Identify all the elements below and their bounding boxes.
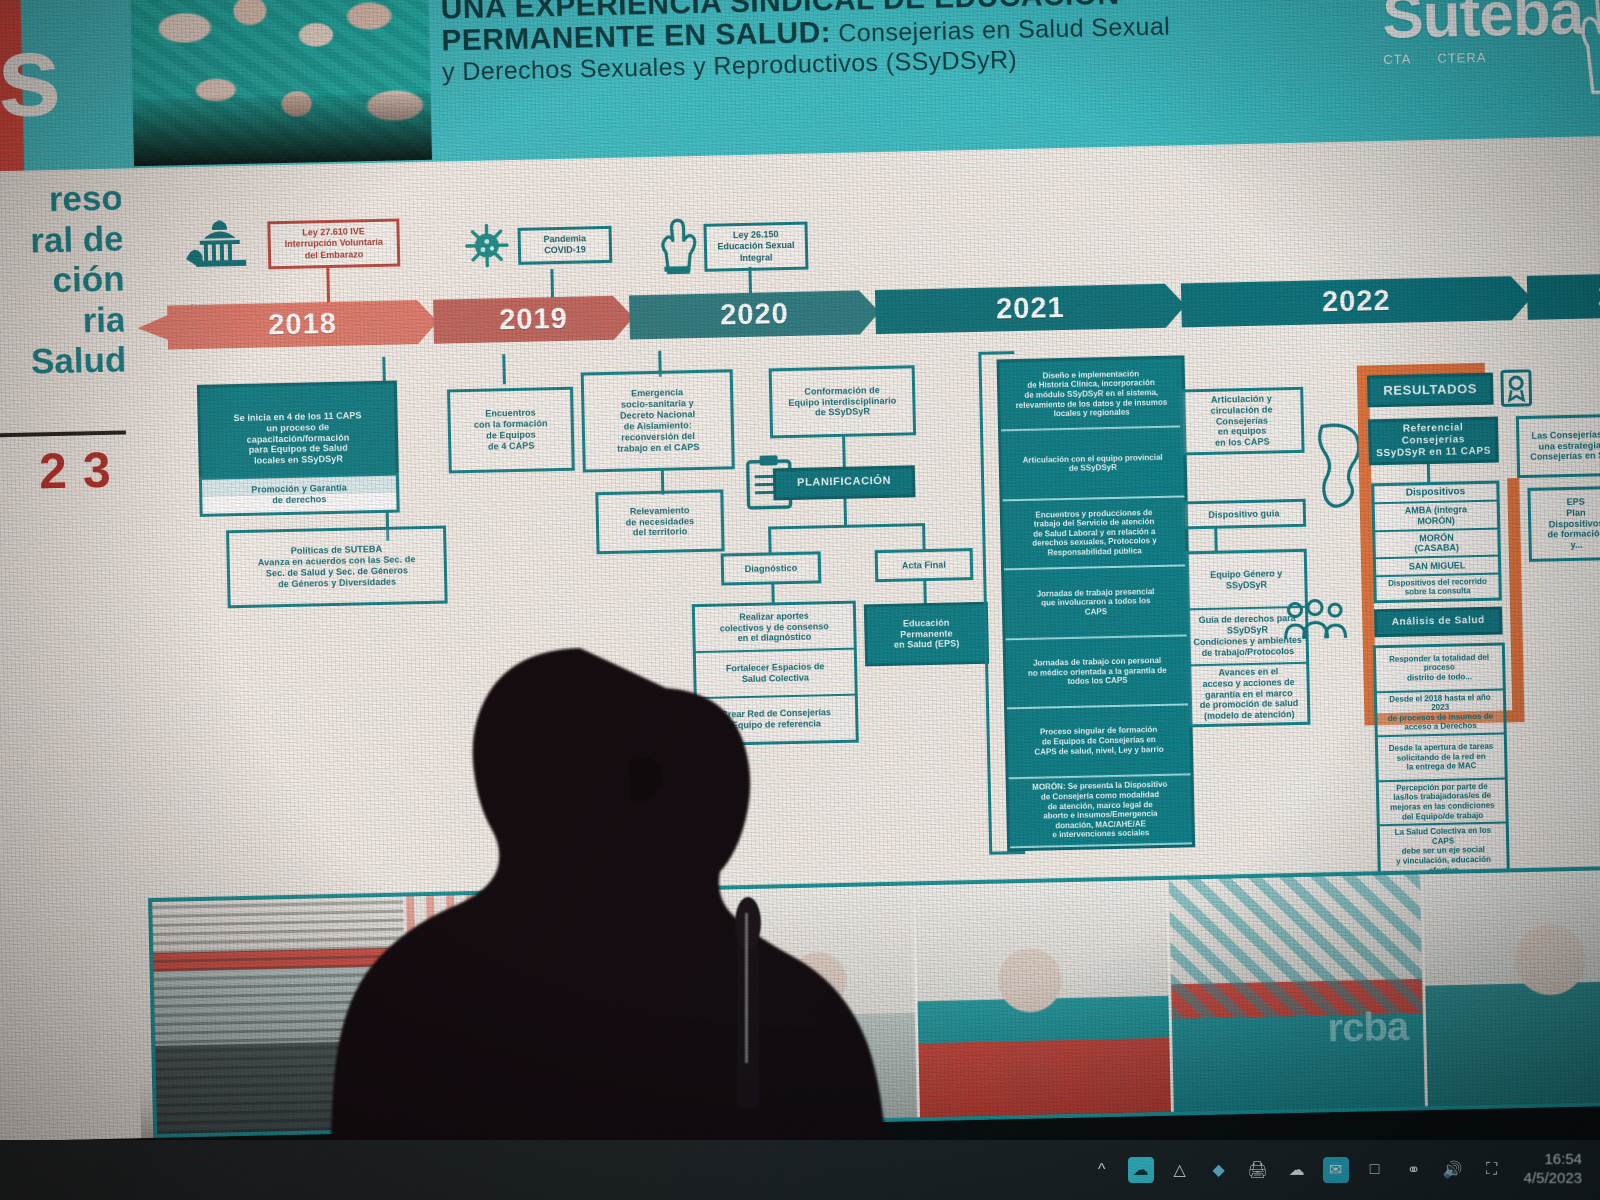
divider [0, 430, 126, 439]
box-2022-main-actions: Diseño e implementación de Historia Clín… [996, 355, 1195, 851]
box-text: Se inicia en 4 de los 11 CAPS un proceso… [233, 410, 362, 468]
milestone-label: PandemiaCOVID-19 [517, 226, 612, 265]
box-2023-eps-plan: EPS Plan Dispositivos de formación y... [1527, 486, 1600, 562]
people-group-icon [1282, 598, 1349, 643]
suteba-logo: Suteba CTA CTERA [1382, 0, 1584, 67]
volume-icon[interactable]: 🔊 [1440, 1157, 1466, 1183]
photo-watermark: rcba [1327, 1005, 1408, 1052]
taskbar-clock[interactable]: 16:54 4/5/2023 [1518, 1151, 1582, 1189]
microphone-icon [735, 895, 761, 1110]
timeline-year-2021[interactable]: 2021 [875, 283, 1186, 334]
clock-date: 4/5/2023 [1524, 1170, 1582, 1189]
box-2023-dispositivos: Dispositivos AMBA (integra MORÓN) MORÓN … [1371, 481, 1502, 604]
year-label: 2021 [996, 291, 1065, 325]
photo-encuentro [1423, 869, 1600, 1106]
congress-line: ral de [0, 219, 124, 264]
mail-icon[interactable]: ✉ [1323, 1157, 1349, 1183]
logo-affiliations: CTA CTERA [1383, 47, 1584, 66]
title-line-3: Consejerias en Salud Sexual [831, 12, 1171, 47]
stack-item: Diseño e implementación de Historia Clín… [1000, 358, 1183, 431]
printer-icon[interactable]: 🖨 [1245, 1157, 1271, 1183]
box-text: Dispositivo guía [1208, 508, 1279, 521]
congress-line: Salud [0, 341, 127, 386]
capitol-building-icon [183, 216, 258, 274]
display-icon[interactable]: □ [1362, 1157, 1388, 1183]
stack-item: Articulación con el equipo provincial de… [1001, 428, 1184, 501]
onedrive-icon[interactable]: ☁ [1128, 1157, 1154, 1183]
nvidia-icon[interactable]: ◆ [1206, 1157, 1232, 1183]
congress-title: reso ral de ción ria Salud [0, 179, 127, 387]
box-2023-resultados: RESULTADOS [1367, 373, 1494, 408]
box-text: Promoción y Garantía de derechos [251, 483, 347, 507]
certificate-icon [1499, 368, 1534, 409]
google-drive-icon[interactable]: △ [1167, 1157, 1193, 1183]
box-2018-rights: Promoción y Garantía de derechos [199, 473, 400, 517]
box-2023-analisis-salud: Análisis de Salud [1374, 607, 1503, 638]
stack-item: Desde la apertura de tareas solicitando … [1378, 735, 1505, 782]
box-text: Conformación de Equipo interdisciplinari… [788, 384, 897, 419]
box-text: Articulación y circulación de Consejería… [1186, 393, 1297, 450]
stack-item: Responder la totalidad del proceso distr… [1376, 646, 1503, 693]
raised-fist-icon [655, 214, 698, 277]
connector [989, 851, 1025, 855]
connector [768, 523, 922, 529]
congress-line: ria [0, 300, 126, 345]
timeline: 2018 2019 2020 2021 2022 2023 [137, 273, 1600, 362]
stack-item: Encuentros y producciones de trabajo del… [1003, 497, 1186, 570]
stack-item: Avances en el acceso y acciones de garan… [1190, 664, 1307, 725]
cloud-sync-icon[interactable]: ☁ [1284, 1157, 1310, 1183]
logo-sub-left: CTA [1383, 51, 1411, 67]
box-text: Las Consejerías son una estrategia de Co… [1530, 428, 1600, 463]
photo-taller-2 [914, 880, 1173, 1117]
box-2022-dispositivo: Dispositivo guía [1182, 499, 1307, 530]
box-text: Políticas de SUTEBA Avanza en acuerdos c… [258, 543, 417, 590]
speaker-silhouette [330, 640, 890, 1200]
connector [842, 437, 846, 467]
box-text: Referencial Consejerías SSyDSyR en 11 CA… [1375, 421, 1492, 460]
congress-line: reso [0, 179, 123, 224]
box-2018-policy: Políticas de SUTEBA Avanza en acuerdos c… [226, 526, 448, 609]
box-text: PLANIFICACIÓN [797, 475, 891, 490]
year-label: 2020 [720, 298, 789, 332]
show-hidden-icons-chevron[interactable]: ^ [1089, 1157, 1115, 1183]
stack-item: AMBA (integra MORÓN) [1375, 502, 1498, 532]
box-2023-referencial: Referencial Consejerías SSyDSyR en 11 CA… [1368, 417, 1499, 466]
connector [923, 581, 927, 605]
timeline-year-2019[interactable]: 2019 [433, 295, 634, 343]
congress-bigword: os [0, 8, 59, 145]
box-2020-planificacion: PLANIFICACIÓN [773, 465, 916, 500]
system-tray[interactable]: ^ ☁ △ ◆ 🖨 ☁ ✉ □ ⚭ 🔊 ⛶ 16:54 4/5/2023 [1089, 1140, 1592, 1200]
stack-item: MORÓN: Se presenta la Dispositivo de Con… [1009, 775, 1192, 848]
box-text: RESULTADOS [1383, 381, 1477, 399]
congress-year: 23 [0, 440, 127, 503]
box-2020-emergency: Emergencia socio-sanitaria y Decreto Nac… [581, 369, 735, 472]
box-text: Acta Final [902, 559, 946, 571]
box-text: Encuentros con la formación de Equipos d… [474, 407, 549, 452]
box-text: Emergencia socio-sanitaria y Decreto Nac… [616, 387, 700, 455]
screenshot-root: os reso ral de ción ria Salud 23 UNA EXP… [0, 0, 1600, 1200]
box-2022-articulation: Articulación y circulación de Consejería… [1179, 387, 1304, 456]
connector [768, 526, 772, 554]
timeline-year-2018[interactable]: 2018 [167, 300, 438, 350]
slide-title: UNA EXPERIENCIA SINDICAL DE EDUCACIÓN PE… [440, 0, 1262, 86]
box-text: Relevamiento de necesidades del territor… [625, 505, 694, 539]
stack-item: Desde el 2018 hasta el año 2023 de proce… [1377, 690, 1504, 737]
connector [502, 354, 506, 384]
antivirus-shield-icon[interactable]: ⚭ [1401, 1157, 1427, 1183]
virus-icon [463, 222, 510, 269]
raised-hand-icon [1572, 0, 1600, 95]
clock-time: 16:54 [1524, 1151, 1582, 1170]
box-text: Análisis de Salud [1392, 615, 1485, 629]
logo-sub-right: CTERA [1437, 50, 1486, 66]
stack-item: Dispositivos del recorrido sobre la cons… [1376, 574, 1498, 600]
timeline-year-2023[interactable]: 2023 [1527, 271, 1600, 320]
year-label: 2018 [268, 307, 337, 341]
box-2020-team: Conformación de Equipo interdisciplinari… [769, 365, 916, 438]
milestone-label: Ley 26.150Educación Sexual Integral [703, 222, 808, 272]
connector [978, 351, 1014, 355]
congress-line: ción [0, 260, 125, 305]
milestone-label: Ley 27.610 IVEInterrupción Voluntariadel… [267, 218, 400, 269]
stack-item: Percepción por parte de las/los trabajad… [1379, 779, 1506, 826]
timeline-year-2022[interactable]: 2022 [1181, 276, 1532, 328]
box-text: Diagnóstico [745, 562, 798, 574]
year-label: 2019 [499, 302, 568, 336]
orange-accent-right [1507, 478, 1524, 722]
box-2019-meetings: Encuentros con la formación de Equipos d… [447, 387, 575, 474]
box-2023-consejerias-estrategia: Las Consejerías son una estrategia de Co… [1516, 414, 1600, 479]
box-text: EPS Plan Dispositivos de formación y... [1547, 496, 1600, 552]
timeline-year-2020[interactable]: 2020 [629, 290, 880, 339]
year-label: 2022 [1322, 284, 1391, 318]
connector [1214, 529, 1218, 553]
congress-branding-strip: os reso ral de ción ria Salud 23 [0, 0, 141, 1142]
stack-item: MORÓN (CASABA) [1375, 529, 1498, 559]
box-2020-diagnostico: Diagnóstico [721, 551, 822, 585]
connector [922, 523, 926, 551]
stack-item: Jornadas de trabajo presencial que invol… [1004, 567, 1187, 640]
windows-taskbar[interactable]: ^ ☁ △ ◆ 🖨 ☁ ✉ □ ⚭ 🔊 ⛶ 16:54 4/5/2023 [0, 1140, 1600, 1200]
box-text: Educación Permanente en Salud (EPS) [893, 617, 959, 651]
connector [843, 499, 847, 525]
header-group-photo [130, 0, 432, 166]
photo-consejeria: rcba [1169, 874, 1428, 1111]
stack-item: Jornadas de trabajo con personal no médi… [1006, 636, 1189, 709]
stack-item: Proceso singular de formación de Equipos… [1007, 705, 1190, 778]
box-2020-acta: Acta Final [875, 548, 974, 582]
logo-wordmark: Suteba [1382, 0, 1584, 48]
box-2020-territory: Relevamiento de necesidades del territor… [595, 489, 724, 554]
network-icon[interactable]: ⛶ [1479, 1157, 1505, 1183]
slide-header: UNA EXPERIENCIA SINDICAL DE EDUCACIÓN PE… [110, 0, 1600, 169]
